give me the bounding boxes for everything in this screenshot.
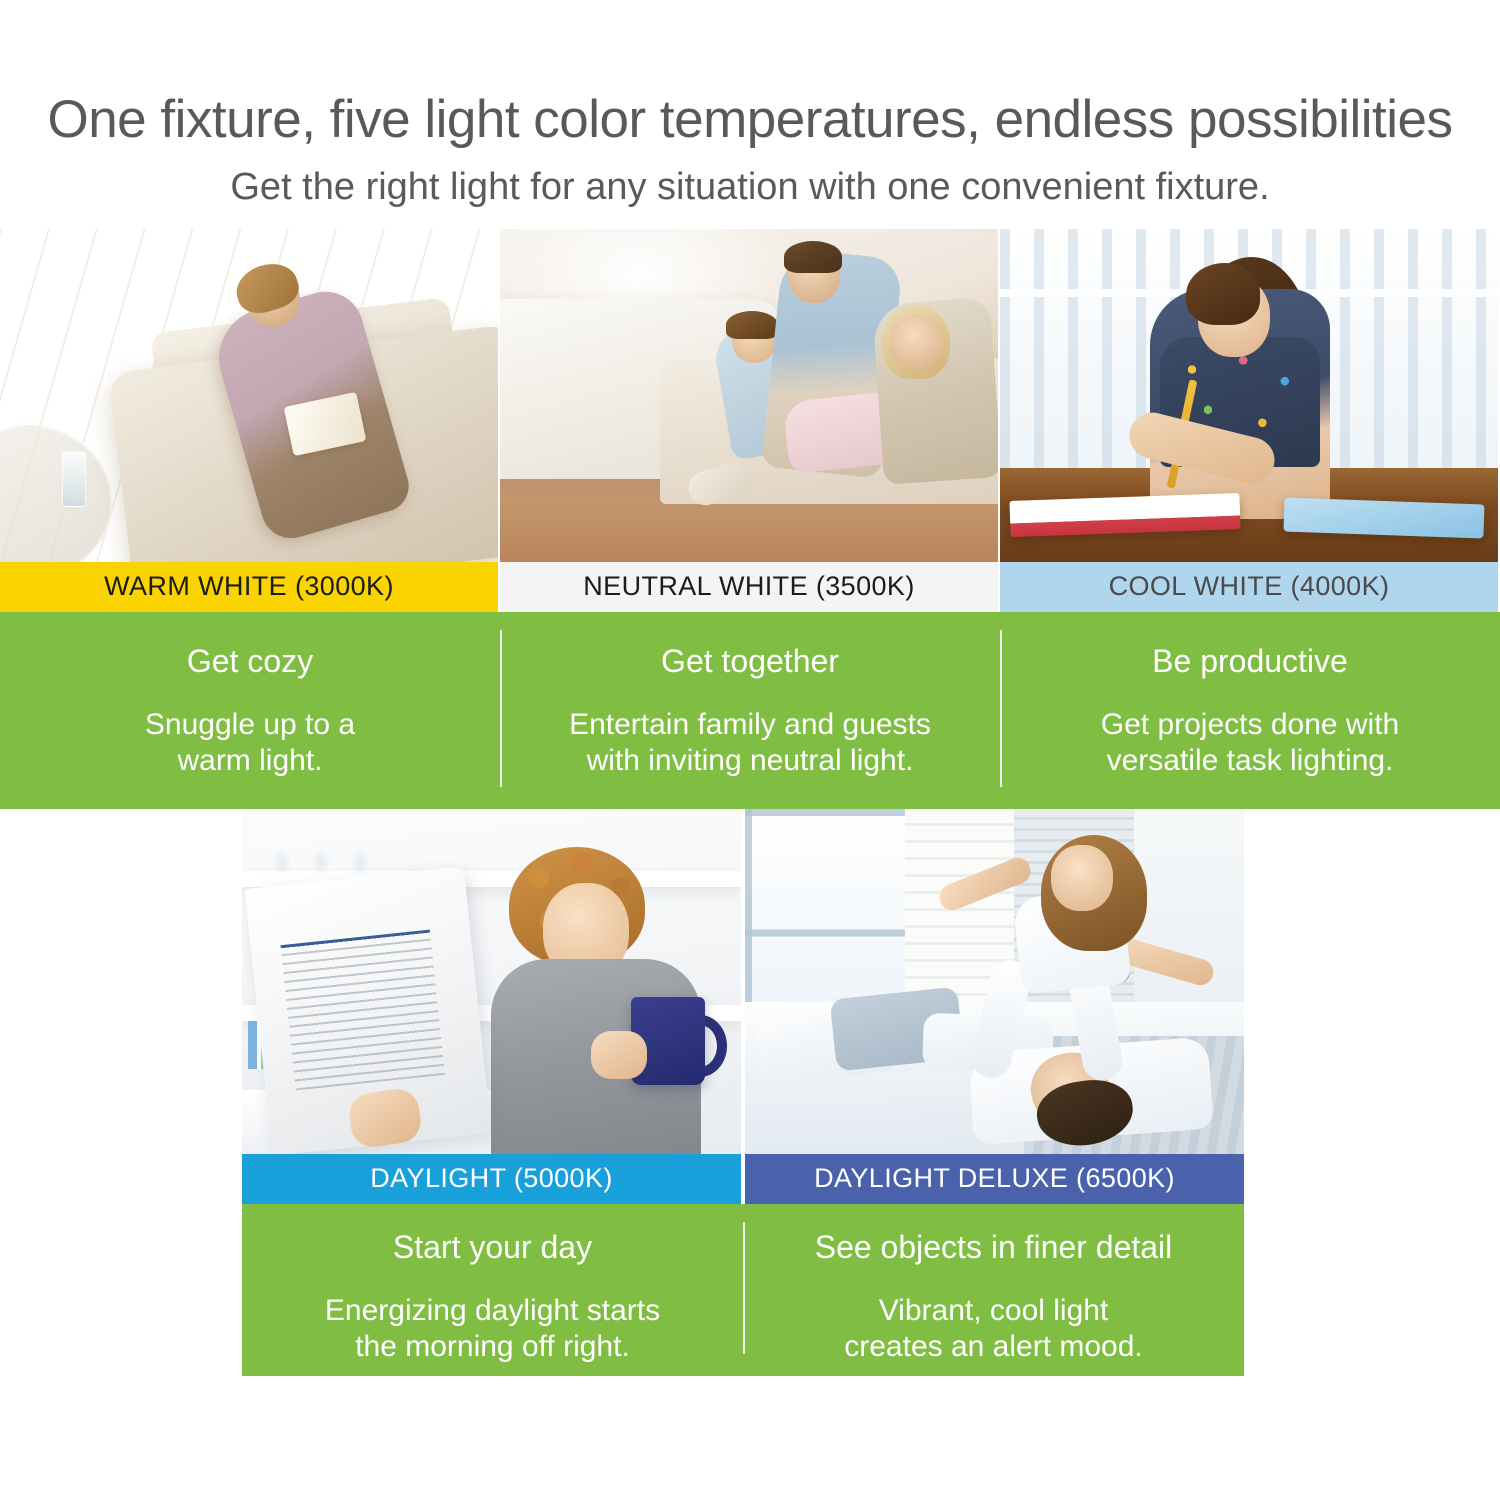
description-title: Start your day bbox=[393, 1230, 592, 1265]
description-body: Get projects done with versatile task li… bbox=[1101, 707, 1400, 780]
description-body-line: Get projects done with bbox=[1101, 707, 1400, 744]
description-title: Be productive bbox=[1152, 644, 1348, 679]
panel-divider bbox=[1000, 630, 1002, 787]
description-body-line: Snuggle up to a bbox=[145, 707, 355, 744]
page-subtitle: Get the right light for any situation wi… bbox=[0, 166, 1500, 209]
description-title: Get cozy bbox=[187, 644, 313, 679]
photo-daylight bbox=[242, 809, 741, 1154]
temp-label-neutral-white: NEUTRAL WHITE (3500K) bbox=[500, 562, 998, 612]
card-daylight: DAYLIGHT (5000K) bbox=[242, 809, 741, 1204]
card-warm-white: WARM WHITE (3000K) bbox=[0, 229, 498, 612]
top-description-row: Get cozy Snuggle up to a warm light. Get… bbox=[0, 612, 1500, 809]
description-body-line: creates an alert mood. bbox=[844, 1329, 1143, 1366]
photo-neutral-white bbox=[500, 229, 998, 562]
photo-cool-white bbox=[1000, 229, 1498, 562]
description-cool-white: Be productive Get projects done with ver… bbox=[1000, 612, 1500, 809]
description-body: Snuggle up to a warm light. bbox=[145, 707, 355, 780]
top-photo-row: WARM WHITE (3000K) NEUTRAL WHITE (3500K) bbox=[0, 229, 1500, 612]
panel-divider bbox=[743, 1222, 745, 1354]
bottom-description-row: Start your day Energizing daylight start… bbox=[242, 1204, 1244, 1376]
card-neutral-white: NEUTRAL WHITE (3500K) bbox=[500, 229, 998, 612]
description-body: Energizing daylight starts the morning o… bbox=[325, 1293, 660, 1366]
description-body-line: Energizing daylight starts bbox=[325, 1293, 660, 1330]
description-neutral-white: Get together Entertain family and guests… bbox=[500, 612, 1000, 809]
photo-daylight-deluxe bbox=[745, 809, 1244, 1154]
description-body-line: the morning off right. bbox=[325, 1329, 660, 1366]
infographic-page: One fixture, five light color temperatur… bbox=[0, 0, 1500, 1500]
card-cool-white: COOL WHITE (4000K) bbox=[1000, 229, 1498, 612]
page-title: One fixture, five light color temperatur… bbox=[0, 92, 1500, 148]
temp-label-daylight: DAYLIGHT (5000K) bbox=[242, 1154, 741, 1204]
description-warm-white: Get cozy Snuggle up to a warm light. bbox=[0, 612, 500, 809]
description-title: See objects in finer detail bbox=[815, 1230, 1173, 1265]
temp-label-warm-white: WARM WHITE (3000K) bbox=[0, 562, 498, 612]
description-title: Get together bbox=[661, 644, 839, 679]
description-body-line: versatile task lighting. bbox=[1101, 743, 1400, 780]
description-body-line: Vibrant, cool light bbox=[844, 1293, 1143, 1330]
description-daylight-deluxe: See objects in finer detail Vibrant, coo… bbox=[743, 1204, 1244, 1376]
panel-divider bbox=[500, 630, 502, 787]
bottom-photo-row: DAYLIGHT (5000K) DAYLIGHT DELUXE (6500K) bbox=[242, 809, 1244, 1204]
temp-label-cool-white: COOL WHITE (4000K) bbox=[1000, 562, 1498, 612]
description-body: Vibrant, cool light creates an alert moo… bbox=[844, 1293, 1143, 1366]
description-body: Entertain family and guests with invitin… bbox=[569, 707, 931, 780]
description-body-line: with inviting neutral light. bbox=[569, 743, 931, 780]
card-daylight-deluxe: DAYLIGHT DELUXE (6500K) bbox=[745, 809, 1244, 1204]
description-daylight: Start your day Energizing daylight start… bbox=[242, 1204, 743, 1376]
header: One fixture, five light color temperatur… bbox=[0, 0, 1500, 209]
photo-warm-white bbox=[0, 229, 498, 562]
description-body-line: Entertain family and guests bbox=[569, 707, 931, 744]
description-body-line: warm light. bbox=[145, 743, 355, 780]
temp-label-daylight-deluxe: DAYLIGHT DELUXE (6500K) bbox=[745, 1154, 1244, 1204]
